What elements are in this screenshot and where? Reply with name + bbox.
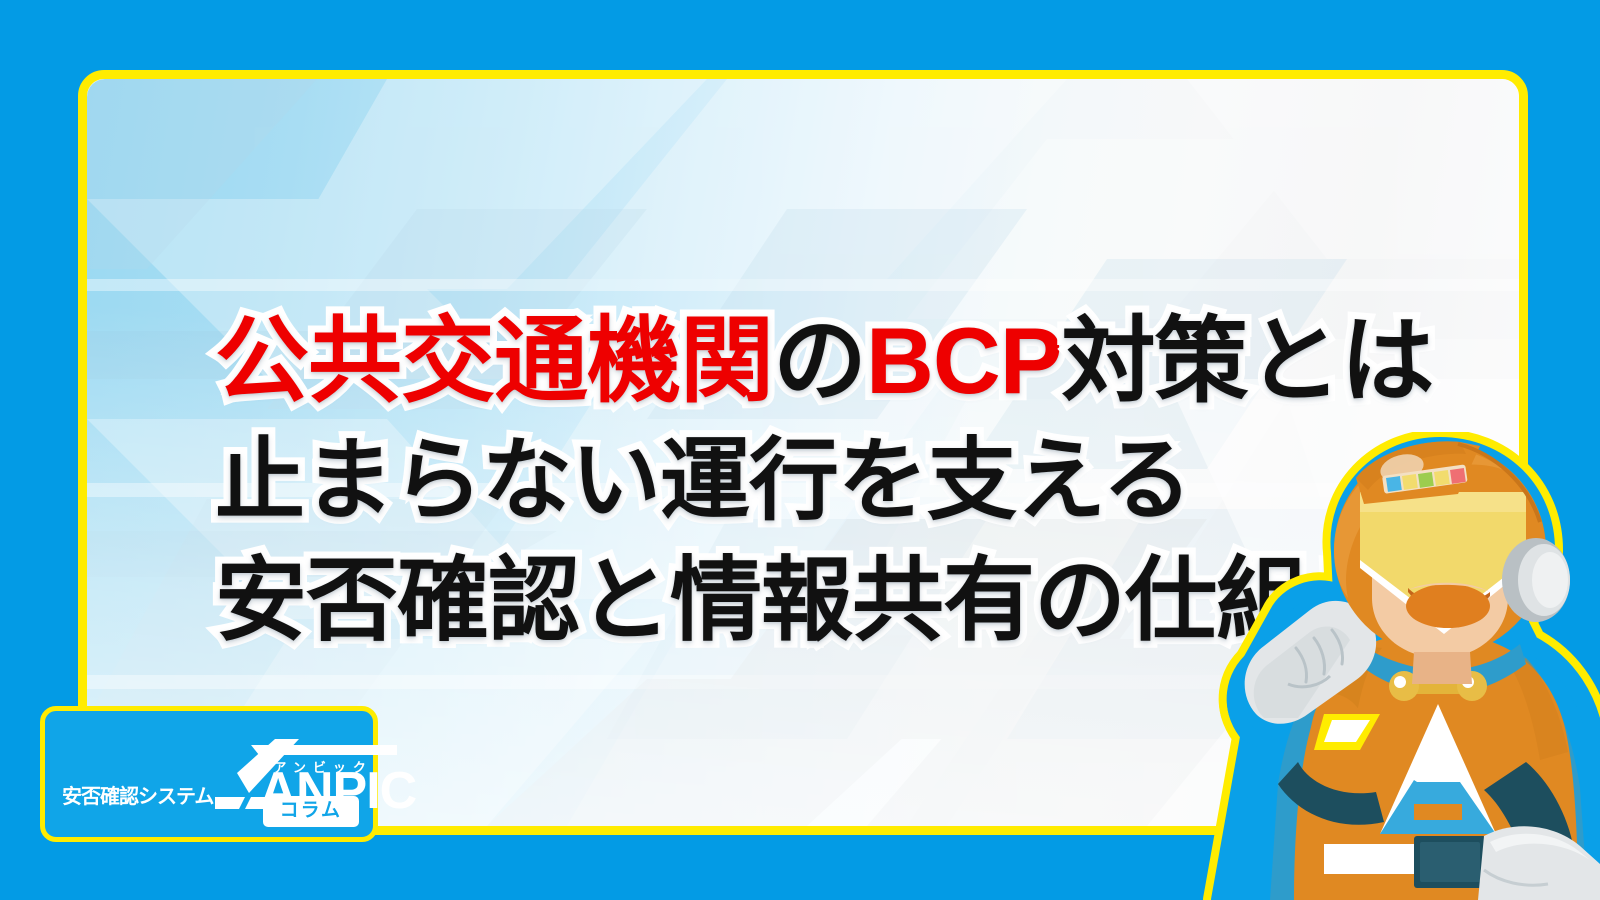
headline-accent-1: 公共交通機関: [215, 308, 773, 413]
headline-line-3: 安否確認と情報共有の仕組み: [215, 541, 1395, 661]
banner-root: 公共交通機関のBCP対策とは 止まらない運行を支える 安否確認と情報共有の仕組み…: [0, 0, 1600, 900]
anpic-logo-panel[interactable]: 安否確認システム アンビック ANPIC コラム: [40, 706, 378, 842]
headline-line-2: 止まらない運行を支える: [215, 421, 1395, 541]
headline-plain-1: の: [773, 308, 866, 413]
logo-column-badge[interactable]: コラム: [263, 796, 359, 827]
logo-system-label: 安否確認システム: [62, 787, 213, 813]
headline-plain-2: 対策とは: [1062, 308, 1434, 413]
headline-accent-2: BCP: [866, 308, 1061, 413]
mascot-belt: [1324, 836, 1574, 888]
headline-line-1: 公共交通機関のBCP対策とは: [215, 301, 1395, 421]
headline-block: 公共交通機関のBCP対策とは 止まらない運行を支える 安否確認と情報共有の仕組み: [215, 301, 1395, 661]
